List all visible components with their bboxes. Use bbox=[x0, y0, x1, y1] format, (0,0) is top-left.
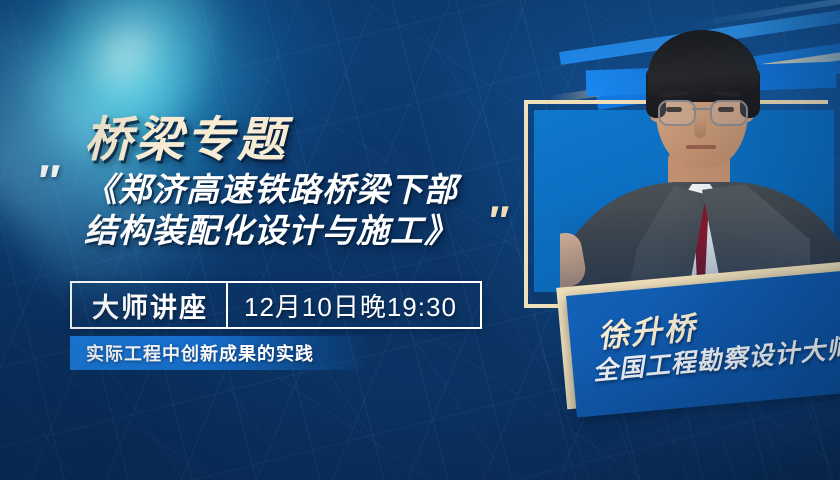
lecture-subtitle: 《郑济高速铁路桥梁下部 结构装配化设计与施工》 bbox=[84, 170, 504, 252]
portrait-nose bbox=[694, 116, 706, 138]
quote-open-icon: ″ bbox=[36, 168, 58, 196]
lecture-subtitle-line2: 结构装配化设计与施工》 bbox=[84, 211, 504, 252]
portrait-eyeglass-bridge bbox=[692, 108, 710, 110]
page-title: 桥梁专题 bbox=[84, 100, 288, 170]
lecture-tagline-bar: 实际工程中创新成果的实践 bbox=[70, 336, 370, 370]
lecture-info-box: 大师讲座 12月10日晚19:30 bbox=[70, 281, 482, 329]
lecture-tagline-text: 实际工程中创新成果的实践 bbox=[70, 340, 314, 366]
quote-close-icon: ″ bbox=[487, 208, 507, 233]
portrait-hair bbox=[648, 30, 758, 102]
lecture-subtitle-line1: 《郑济高速铁路桥梁下部 bbox=[84, 171, 458, 208]
lecture-datetime: 12月10日晚19:30 bbox=[228, 287, 480, 324]
lecture-poster: 桥梁专题 ″ 《郑济高速铁路桥梁下部 结构装配化设计与施工》 ″ 大师讲座 12… bbox=[0, 0, 840, 480]
portrait-eyeglass-left bbox=[658, 100, 696, 126]
lecture-type-label: 大师讲座 bbox=[72, 286, 226, 325]
speaker-nameplate: 徐升桥 全国工程勘察设计大师 bbox=[566, 268, 840, 417]
portrait-mouth bbox=[686, 145, 716, 149]
portrait-eyeglass-right bbox=[710, 100, 748, 126]
